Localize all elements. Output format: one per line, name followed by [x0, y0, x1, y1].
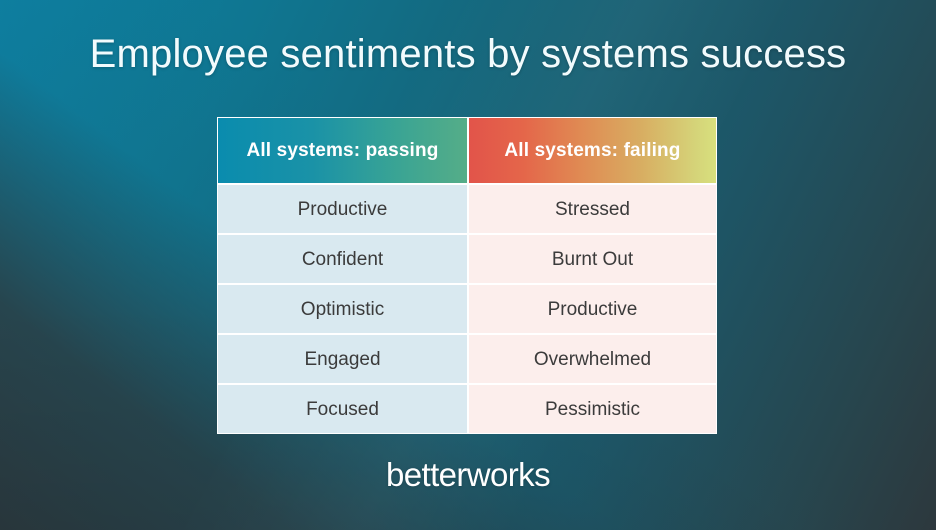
cell-passing-2: Confident [218, 233, 467, 283]
table-row: Focused Pessimistic [218, 383, 716, 433]
column-header-passing: All systems: passing [218, 118, 467, 183]
table-row: Confident Burnt Out [218, 233, 716, 283]
cell-passing-4: Engaged [218, 333, 467, 383]
cell-failing-2: Burnt Out [467, 233, 716, 283]
table-header-row: All systems: passing All systems: failin… [218, 118, 716, 183]
slide-canvas: Employee sentiments by systems success A… [0, 0, 936, 530]
table-row: Engaged Overwhelmed [218, 333, 716, 383]
cell-passing-1: Productive [218, 183, 467, 233]
cell-passing-5: Focused [218, 383, 467, 433]
column-header-failing: All systems: failing [467, 118, 716, 183]
cell-passing-3: Optimistic [218, 283, 467, 333]
sentiments-table: All systems: passing All systems: failin… [217, 117, 717, 434]
table-row: Optimistic Productive [218, 283, 716, 333]
cell-failing-1: Stressed [467, 183, 716, 233]
table-row: Productive Stressed [218, 183, 716, 233]
cell-failing-3: Productive [467, 283, 716, 333]
cell-failing-4: Overwhelmed [467, 333, 716, 383]
page-title: Employee sentiments by systems success [0, 32, 936, 77]
betterworks-logo: betterworks [0, 456, 936, 494]
cell-failing-5: Pessimistic [467, 383, 716, 433]
